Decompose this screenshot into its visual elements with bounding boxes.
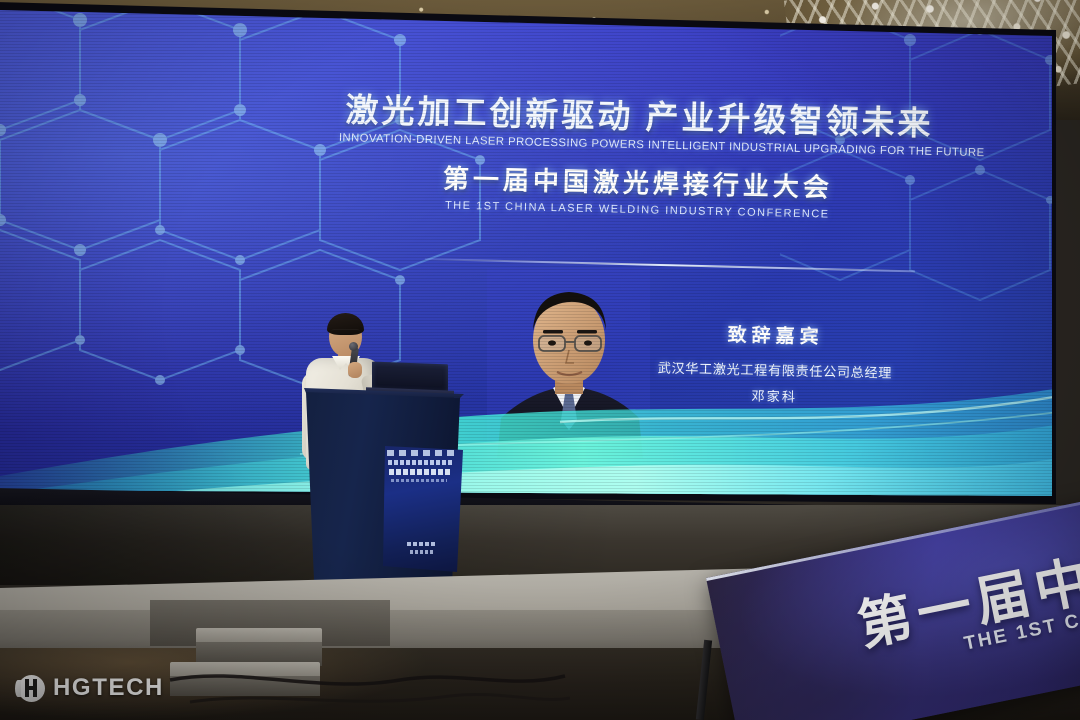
podium-poster xyxy=(383,446,463,572)
hgtech-logo-icon xyxy=(18,675,45,702)
podium-poster-subtitle-line xyxy=(391,479,447,482)
microphone-head-icon xyxy=(349,342,358,351)
floor-cables xyxy=(150,650,570,714)
podium-poster-footer-line2 xyxy=(410,550,434,554)
conference-stage-photo: 激光加工创新驱动 产业升级智领未来 INNOVATION-DRIVEN LASE… xyxy=(0,0,1080,720)
podium-poster-footer-line1 xyxy=(407,542,437,546)
podium-poster-title-line xyxy=(389,469,451,475)
watermark-brand-text: HGTECH xyxy=(53,674,164,702)
watermark: HGTECH xyxy=(18,674,164,702)
podium-poster-slogan-line xyxy=(388,460,454,465)
stage-wall-shadow xyxy=(0,505,620,585)
screen-scanline-texture xyxy=(0,0,1060,516)
presenter-hand xyxy=(348,362,362,378)
podium-poster-sponsor-logos xyxy=(387,450,457,456)
presenter-glasses-icon xyxy=(331,329,360,338)
led-screen: 激光加工创新驱动 产业升级智领未来 INNOVATION-DRIVEN LASE… xyxy=(0,0,1060,516)
